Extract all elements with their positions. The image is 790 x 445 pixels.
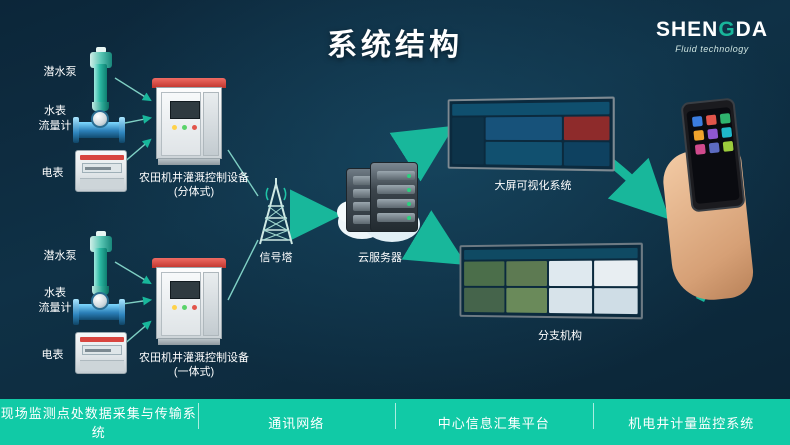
cabinet-body-icon: [156, 87, 222, 159]
bottom-legend-bar: 现场监测点处数据采集与传输系统 通讯网络 中心信息汇集平台 机电井计量监控系统: [0, 399, 790, 445]
logo-part-1: SHEN: [656, 18, 718, 41]
water-meter-top: [75, 110, 127, 146]
mobile-phone: [680, 97, 745, 212]
wall-tile: [464, 288, 504, 313]
phone-app-icon: [695, 144, 706, 155]
label-water-meter-bottom-line2: 流量计: [30, 302, 80, 315]
legend-item-3: 中心信息汇集平台: [395, 413, 593, 432]
wall-tile: [594, 260, 638, 286]
cabinet-led-green-icon: [182, 125, 187, 130]
label-electric-meter-top: 电表: [30, 167, 75, 180]
legend-item-1: 现场监测点处数据采集与传输系统: [0, 403, 198, 441]
server-slot: [377, 171, 415, 180]
electric-meter-topstrip-icon: [80, 337, 124, 342]
label-pump-top: 潜水泵: [36, 66, 84, 79]
water-meter-bottom: [75, 292, 127, 328]
logo-tagline: Fluid technology: [656, 44, 768, 54]
cabinet-door-icon: [161, 92, 201, 156]
control-cabinet-integrated: [156, 258, 232, 348]
electric-meter-display-icon: [82, 163, 122, 173]
screen-tile-left: [452, 117, 484, 164]
label-electric-meter-bottom: 电表: [30, 349, 75, 362]
screen-tile-right-top: [564, 116, 610, 140]
wall-tile: [464, 261, 504, 286]
legend-item-4: 机电井计量监控系统: [593, 413, 790, 432]
phone-app-icon: [723, 141, 734, 152]
cabinet-led-red-icon: [192, 125, 197, 130]
logo-brand-text: SHENGDA: [656, 18, 768, 42]
water-meter-dial-icon: [91, 110, 109, 128]
label-pump-bottom: 潜水泵: [36, 250, 84, 263]
electric-meter-terminal-icon: [80, 360, 124, 371]
legend-item-2: 通讯网络: [198, 413, 396, 432]
cabinet-led-green-icon: [182, 305, 187, 310]
branch-display-wall: [460, 243, 643, 320]
big-screen-visualization: [448, 97, 615, 172]
electric-meter-body-icon: [75, 150, 127, 192]
cabinet-panel-icon: [170, 281, 200, 299]
label-water-meter-top-line2: 流量计: [30, 120, 80, 133]
submersible-pump-bottom: [88, 234, 118, 296]
server-rack: [344, 162, 420, 238]
cabinet-side-icon: [203, 272, 219, 336]
signal-tower-icon: [248, 178, 304, 250]
cabinet-led-yellow-icon: [172, 125, 177, 130]
wall-tile-header: [464, 248, 638, 260]
label-water-meter-bottom-line1: 水表: [30, 287, 80, 300]
diagram-canvas: 系统结构 SHENGDA Fluid technology: [0, 0, 790, 445]
phone-screen: [686, 107, 739, 204]
label-branch: 分支机构: [515, 330, 605, 343]
pump-body-icon: [94, 248, 107, 288]
cabinet-panel-icon: [170, 101, 200, 119]
wall-tile: [506, 261, 547, 286]
cabinet-led-yellow-icon: [172, 305, 177, 310]
water-meter-flange-right-icon: [119, 299, 125, 325]
electric-meter-top: [75, 150, 129, 194]
phone-app-icon: [721, 127, 732, 138]
phone-app-icon: [693, 130, 704, 141]
cabinet-body-icon: [156, 267, 222, 339]
phone-app-icon: [692, 116, 703, 127]
label-cabinet-integrated-line1: 农田机井灌溉控制设备: [132, 352, 256, 365]
label-water-meter-top-line1: 水表: [30, 105, 80, 118]
label-signal-tower: 信号塔: [246, 252, 306, 265]
cabinet-base-icon: [158, 339, 220, 345]
signal-tower: [248, 178, 304, 250]
screen-tile-right-bottom: [564, 142, 610, 166]
control-cabinet-split: [156, 78, 232, 168]
server-slot: [377, 185, 415, 194]
electric-meter-body-icon: [75, 332, 127, 374]
logo-part-g: G: [718, 18, 735, 41]
logo-part-2: DA: [736, 18, 768, 41]
electric-meter-display-icon: [82, 345, 122, 355]
phone-app-icon: [720, 113, 731, 124]
wall-tile: [549, 288, 592, 314]
phone-app-icon: [706, 114, 717, 125]
screen-tile-center-bottom: [486, 142, 562, 166]
electric-meter-bottom: [75, 332, 129, 376]
electric-meter-terminal-icon: [80, 178, 124, 189]
pump-body-icon: [94, 64, 107, 104]
label-cloud-server: 云服务器: [340, 252, 420, 265]
label-big-screen: 大屏可视化系统: [478, 180, 588, 193]
cabinet-door-icon: [161, 272, 201, 336]
company-logo: SHENGDA Fluid technology: [656, 18, 768, 54]
screen-tile-center-top: [486, 117, 562, 140]
cabinet-base-icon: [158, 159, 220, 165]
screen-tile-header: [452, 102, 609, 116]
cabinet-side-icon: [203, 92, 219, 156]
water-meter-dial-icon: [91, 292, 109, 310]
label-cabinet-integrated-line2: (一体式): [132, 366, 256, 379]
submersible-pump-top: [88, 50, 118, 112]
phone-app-icon: [707, 128, 718, 139]
server-slot: [377, 199, 415, 208]
server-slot: [377, 213, 415, 222]
label-cabinet-split-line1: 农田机井灌溉控制设备: [132, 172, 256, 185]
big-screen-content: [449, 99, 612, 170]
phone-app-icon: [709, 142, 720, 153]
water-meter-flange-right-icon: [119, 117, 125, 143]
wall-tile: [506, 288, 547, 313]
electric-meter-topstrip-icon: [80, 155, 124, 160]
server-rack-icon-secondary: [370, 162, 418, 232]
branch-wall-content: [461, 245, 640, 317]
cabinet-led-red-icon: [192, 305, 197, 310]
label-cabinet-split-line2: (分体式): [132, 186, 256, 199]
wall-tile: [549, 261, 592, 286]
wall-tile: [594, 288, 638, 314]
